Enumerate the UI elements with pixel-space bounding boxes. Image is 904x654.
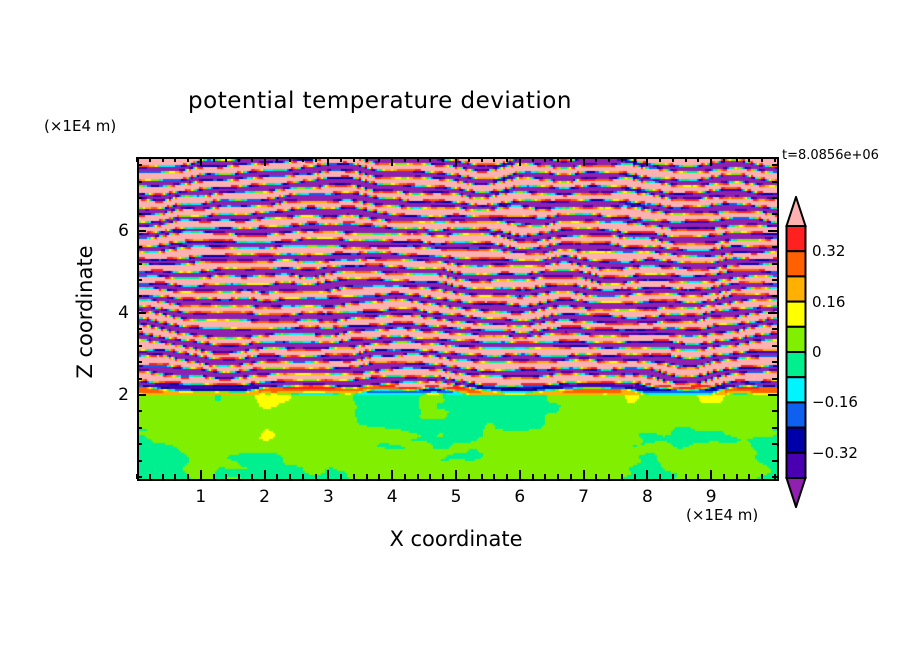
- x-tick-label: 9: [706, 487, 717, 507]
- x-tick-label: 8: [642, 487, 653, 507]
- z-axis-unit-label: (×1E4 m): [44, 117, 116, 135]
- x-tick-top: [442, 157, 444, 162]
- x-tick: [723, 474, 725, 479]
- x-tick-top: [429, 157, 431, 162]
- x-tick-label: 7: [578, 487, 589, 507]
- y-tick-label: 2: [97, 385, 129, 405]
- y-tick: [137, 279, 142, 281]
- x-tick: [736, 474, 738, 479]
- colorbar-band: [787, 402, 806, 427]
- x-tick: [672, 474, 674, 479]
- x-tick: [455, 470, 457, 479]
- x-tick-top: [532, 157, 534, 162]
- x-tick: [532, 474, 534, 479]
- colorbar-band: [787, 276, 806, 301]
- colorbar-band: [787, 377, 806, 402]
- x-tick-top: [710, 157, 712, 166]
- y-tick: [137, 213, 142, 215]
- colorbar-over-arrow: [787, 197, 806, 226]
- x-tick: [442, 474, 444, 479]
- x-tick-top: [608, 157, 610, 162]
- x-tick-label: 1: [195, 487, 206, 507]
- x-tick: [557, 474, 559, 479]
- x-tick-top: [264, 157, 266, 166]
- x-tick-top: [302, 157, 304, 162]
- x-tick-label: 6: [514, 487, 525, 507]
- page-title: potential temperature deviation: [0, 88, 760, 114]
- y-axis-title: Z coordinate: [73, 212, 97, 412]
- y-tick: [137, 410, 142, 412]
- contour-plot-area: [137, 157, 779, 481]
- y-tick: [137, 246, 142, 248]
- y-tick: [137, 460, 142, 462]
- x-tick: [646, 470, 648, 479]
- y-tick-right: [772, 460, 777, 462]
- y-tick-right: [772, 328, 777, 330]
- x-tick-top: [213, 157, 215, 162]
- x-tick-top: [225, 157, 227, 162]
- x-tick: [174, 474, 176, 479]
- colorbar-tick-label: −0.32: [812, 444, 858, 462]
- y-tick-right: [772, 427, 777, 429]
- x-tick-top: [583, 157, 585, 166]
- x-tick: [200, 470, 202, 479]
- y-tick: [137, 427, 142, 429]
- x-tick-top: [774, 157, 776, 162]
- x-tick: [276, 474, 278, 479]
- y-tick: [137, 378, 142, 380]
- x-tick: [213, 474, 215, 479]
- x-tick-label: 2: [259, 487, 270, 507]
- x-tick-top: [136, 157, 138, 162]
- x-tick-top: [276, 157, 278, 162]
- x-tick-top: [455, 157, 457, 166]
- y-tick-right: [772, 378, 777, 380]
- colorbar-band: [787, 327, 806, 352]
- x-tick-top: [672, 157, 674, 162]
- y-tick-right: [772, 197, 777, 199]
- x-tick-top: [404, 157, 406, 162]
- y-tick-right: [772, 246, 777, 248]
- x-tick: [506, 474, 508, 479]
- x-tick: [595, 474, 597, 479]
- y-tick: [137, 312, 146, 314]
- figure-root: potential temperature deviation (×1E4 m)…: [0, 0, 904, 654]
- y-tick: [137, 181, 142, 183]
- x-tick-top: [544, 157, 546, 162]
- colorbar-band: [787, 302, 806, 327]
- colorbar-swatches: [785, 196, 807, 508]
- x-axis-title: X coordinate: [137, 527, 775, 551]
- x-tick-top: [289, 157, 291, 162]
- y-tick-right: [768, 312, 777, 314]
- x-tick-top: [315, 157, 317, 162]
- x-tick: [327, 470, 329, 479]
- x-tick: [238, 474, 240, 479]
- colorbar-tick-label: −0.16: [812, 393, 858, 411]
- x-tick: [353, 474, 355, 479]
- contour-field-canvas: [139, 159, 777, 479]
- x-tick-top: [378, 157, 380, 162]
- x-tick: [570, 474, 572, 479]
- y-tick: [137, 476, 142, 478]
- colorbar-tick-label: 0: [812, 343, 822, 361]
- x-tick-top: [570, 157, 572, 162]
- x-tick-top: [327, 157, 329, 166]
- x-tick: [481, 474, 483, 479]
- x-tick-top: [748, 157, 750, 162]
- x-axis-unit-label: (×1E4 m): [686, 506, 758, 524]
- x-tick: [761, 474, 763, 479]
- y-tick: [137, 328, 142, 330]
- x-tick: [289, 474, 291, 479]
- colorbar-band: [787, 226, 806, 251]
- y-tick: [137, 394, 146, 396]
- y-tick: [137, 443, 142, 445]
- x-tick-top: [506, 157, 508, 162]
- x-tick-top: [736, 157, 738, 162]
- x-tick-top: [366, 157, 368, 162]
- x-tick: [417, 474, 419, 479]
- x-tick: [519, 470, 521, 479]
- x-tick-label: 4: [387, 487, 398, 507]
- colorbar-under-arrow: [787, 478, 806, 507]
- colorbar-band: [787, 453, 806, 478]
- x-tick-top: [646, 157, 648, 166]
- x-tick: [149, 474, 151, 479]
- y-tick: [137, 295, 142, 297]
- x-tick-top: [340, 157, 342, 162]
- y-tick: [137, 263, 142, 265]
- x-tick: [391, 470, 393, 479]
- x-tick: [366, 474, 368, 479]
- y-tick-right: [772, 345, 777, 347]
- y-tick-right: [772, 361, 777, 363]
- y-tick: [137, 197, 142, 199]
- colorbar: [785, 196, 807, 508]
- x-tick: [748, 474, 750, 479]
- x-tick: [468, 474, 470, 479]
- x-tick: [225, 474, 227, 479]
- x-tick-top: [519, 157, 521, 166]
- timestamp-annotation: t=8.0856e+06: [782, 148, 879, 163]
- x-tick-top: [723, 157, 725, 162]
- x-tick: [621, 474, 623, 479]
- x-tick: [251, 474, 253, 479]
- x-tick: [340, 474, 342, 479]
- y-tick: [137, 345, 142, 347]
- y-tick-right: [772, 476, 777, 478]
- x-tick: [378, 474, 380, 479]
- x-tick-top: [187, 157, 189, 162]
- y-tick-label: 4: [97, 303, 129, 323]
- x-tick-top: [595, 157, 597, 162]
- x-tick-top: [353, 157, 355, 162]
- x-tick-top: [659, 157, 661, 162]
- y-tick: [137, 164, 142, 166]
- x-tick: [710, 470, 712, 479]
- y-tick: [137, 361, 142, 363]
- x-tick: [264, 470, 266, 479]
- x-tick: [697, 474, 699, 479]
- x-tick: [685, 474, 687, 479]
- x-tick-top: [238, 157, 240, 162]
- y-tick-label: 6: [97, 221, 129, 241]
- colorbar-tick-label: 0.16: [812, 293, 845, 311]
- x-tick: [544, 474, 546, 479]
- x-tick-top: [200, 157, 202, 166]
- x-tick-top: [761, 157, 763, 162]
- x-tick: [634, 474, 636, 479]
- x-tick-top: [174, 157, 176, 162]
- y-tick-right: [772, 410, 777, 412]
- x-tick-label: 3: [323, 487, 334, 507]
- x-tick-top: [685, 157, 687, 162]
- x-tick: [493, 474, 495, 479]
- x-tick-top: [557, 157, 559, 162]
- x-tick-top: [417, 157, 419, 162]
- colorbar-band: [787, 428, 806, 453]
- x-tick: [608, 474, 610, 479]
- x-tick-top: [493, 157, 495, 162]
- x-tick: [429, 474, 431, 479]
- y-tick: [137, 230, 146, 232]
- x-tick-top: [697, 157, 699, 162]
- x-tick: [187, 474, 189, 479]
- y-tick-right: [772, 181, 777, 183]
- y-tick-right: [768, 230, 777, 232]
- colorbar-band: [787, 251, 806, 276]
- x-tick-top: [251, 157, 253, 162]
- x-tick: [302, 474, 304, 479]
- x-tick-top: [621, 157, 623, 162]
- y-tick-right: [772, 295, 777, 297]
- x-tick-top: [149, 157, 151, 162]
- x-tick-top: [162, 157, 164, 162]
- colorbar-band: [787, 352, 806, 377]
- y-tick-right: [772, 263, 777, 265]
- x-tick-top: [481, 157, 483, 162]
- x-tick: [583, 470, 585, 479]
- y-tick-right: [772, 164, 777, 166]
- x-tick: [404, 474, 406, 479]
- x-tick: [659, 474, 661, 479]
- colorbar-tick-label: 0.32: [812, 242, 845, 260]
- y-tick-right: [772, 213, 777, 215]
- y-tick-right: [772, 279, 777, 281]
- x-tick: [315, 474, 317, 479]
- x-tick-top: [391, 157, 393, 166]
- x-tick: [162, 474, 164, 479]
- y-tick-right: [768, 394, 777, 396]
- x-tick-top: [634, 157, 636, 162]
- x-tick-label: 5: [451, 487, 462, 507]
- x-tick-top: [468, 157, 470, 162]
- y-tick-right: [772, 443, 777, 445]
